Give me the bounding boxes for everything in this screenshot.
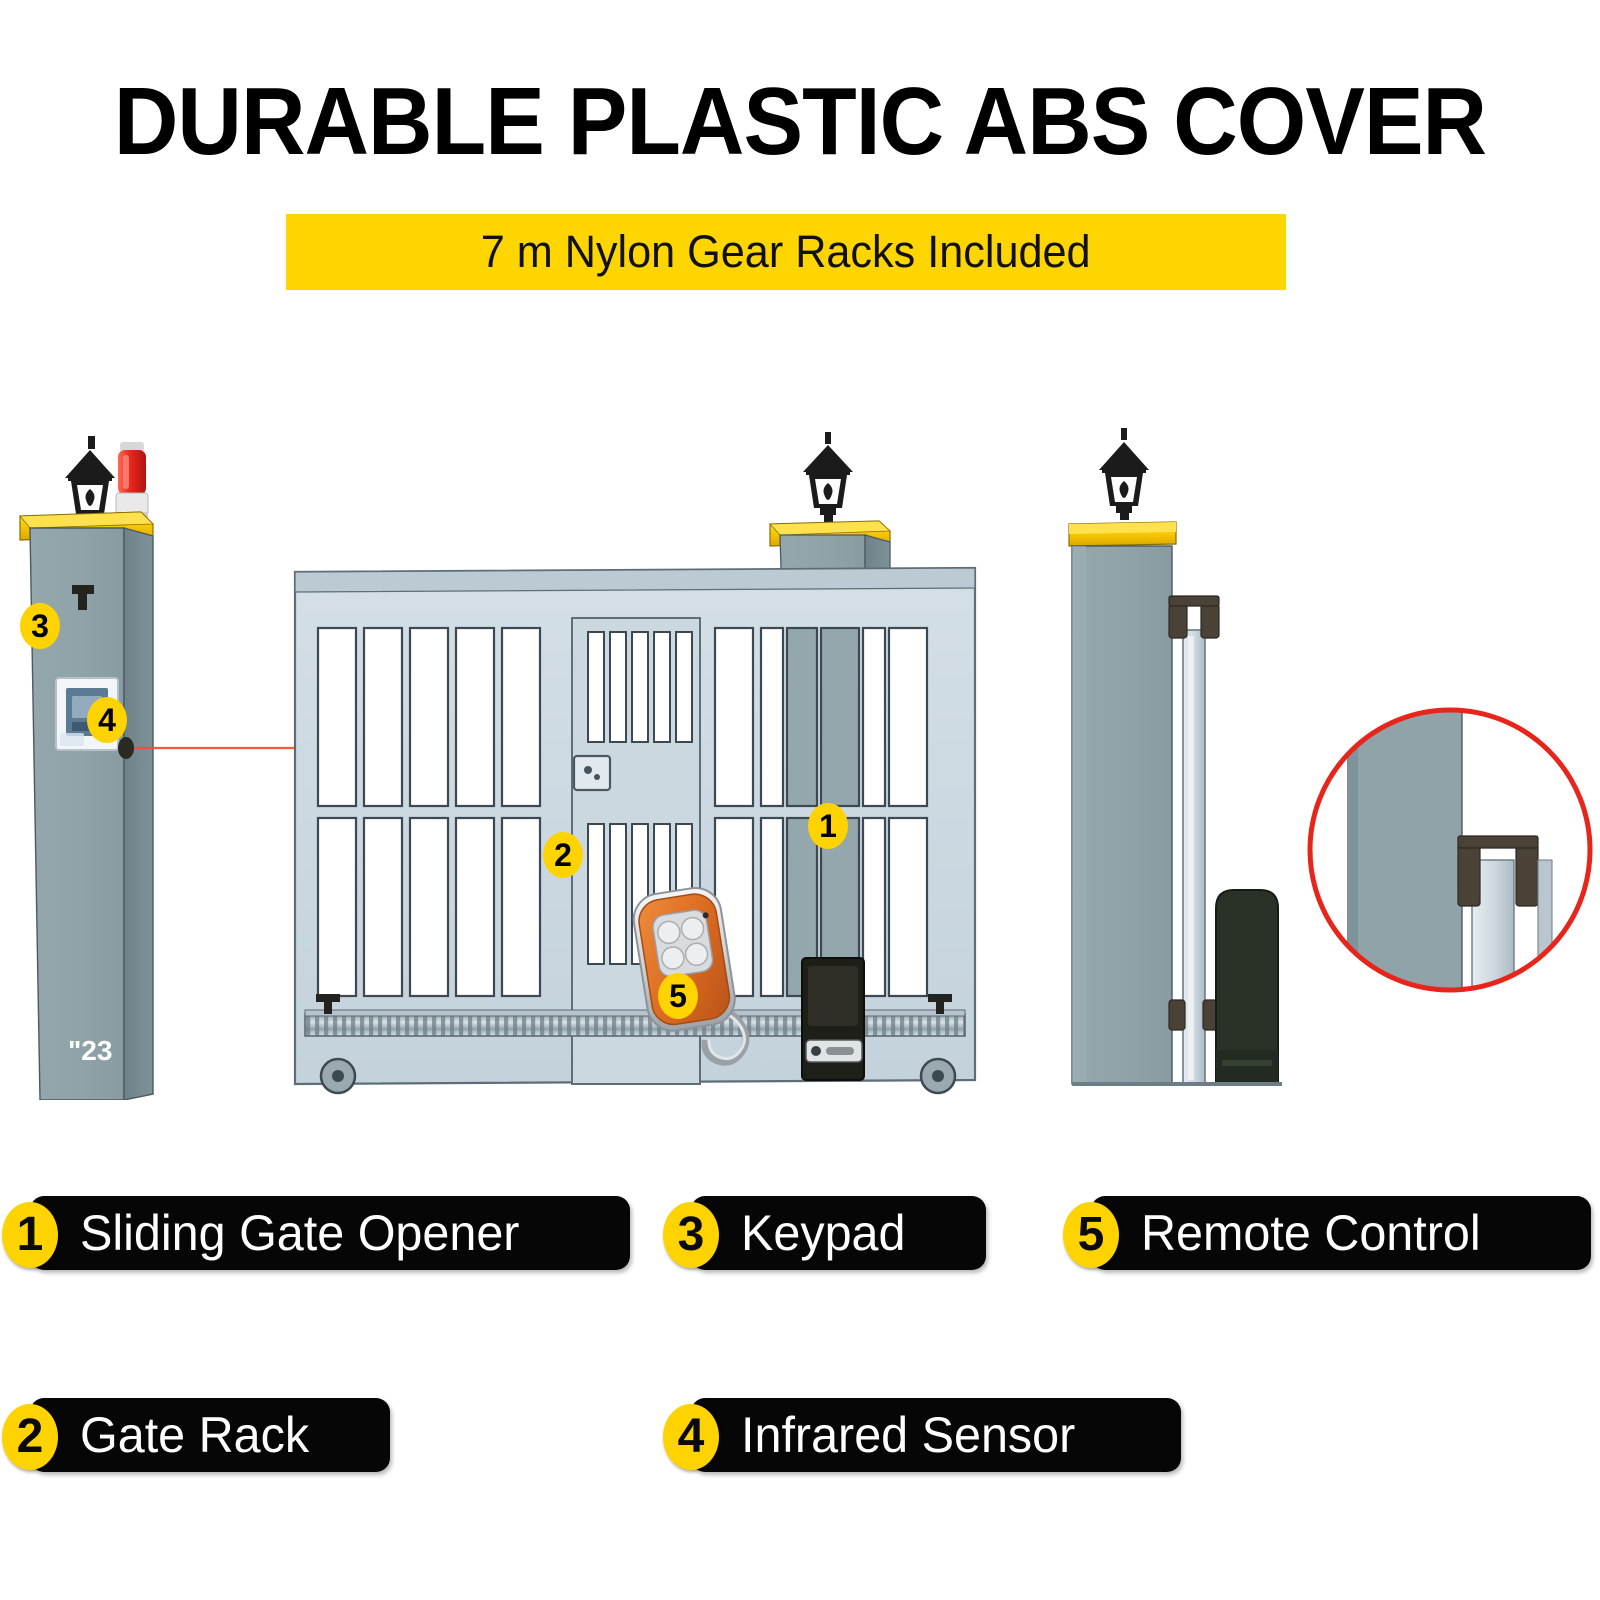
subtitle-banner: 7 m Nylon Gear Racks Included <box>286 214 1286 290</box>
legend-label-4: Infrared Sensor <box>741 1407 1101 1463</box>
legend-label-5: Remote Control <box>1141 1205 1506 1261</box>
legend-label-2: Gate Rack <box>80 1407 334 1463</box>
product-illustration: "23 <box>0 400 1600 1100</box>
legend-number-2: 2 <box>2 1404 58 1470</box>
legend-number-4: 4 <box>663 1404 719 1470</box>
legend-number-3: 3 <box>663 1202 719 1268</box>
art-badge-4: 4 <box>87 697 127 743</box>
infrared-sensor-eye <box>118 737 134 759</box>
legend-number-1: 1 <box>2 1202 58 1268</box>
lantern-lamp-middle <box>803 432 853 522</box>
detail-inset-group <box>1300 600 1600 1020</box>
art-badge-3: 3 <box>20 603 60 649</box>
legend-item-2[interactable]: 2 Gate Rack <box>2 1398 342 1472</box>
page-title: DURABLE PLASTIC ABS COVER <box>56 72 1544 172</box>
legend-label-3: Keypad <box>741 1205 931 1261</box>
art-badge-2: 2 <box>543 832 583 878</box>
gate-edge-rail <box>1183 630 1205 1084</box>
pillar-body-right <box>1072 546 1172 1084</box>
left-pillar-group: "23 <box>20 436 153 1100</box>
legend-item-5[interactable]: 5 Remote Control <box>1063 1196 1517 1270</box>
art-badge-1: 1 <box>808 803 848 849</box>
art-badge-5: 5 <box>658 973 698 1019</box>
remote-button-pad <box>651 908 714 978</box>
sliding-gate-group <box>295 568 975 1093</box>
right-pillar-group <box>1069 428 1282 1086</box>
right-opener-motor <box>1216 890 1278 1084</box>
alarm-beacon <box>116 442 148 520</box>
gate-opener-motor <box>802 958 864 1080</box>
legend-label-1: Sliding Gate Opener <box>80 1205 545 1261</box>
subtitle-text: 7 m Nylon Gear Racks Included <box>481 227 1091 277</box>
gate-rack <box>305 1010 965 1036</box>
legend-item-4[interactable]: 4 Infrared Sensor <box>663 1398 1112 1472</box>
legend-item-1[interactable]: 1 Sliding Gate Opener <box>2 1196 559 1270</box>
gate-lock-plate <box>574 756 610 790</box>
pillar-size-label: "23 <box>68 1035 112 1066</box>
legend-item-3[interactable]: 3 Keypad <box>663 1196 937 1270</box>
legend-number-5: 5 <box>1063 1202 1119 1268</box>
lantern-lamp-right <box>1099 428 1149 520</box>
